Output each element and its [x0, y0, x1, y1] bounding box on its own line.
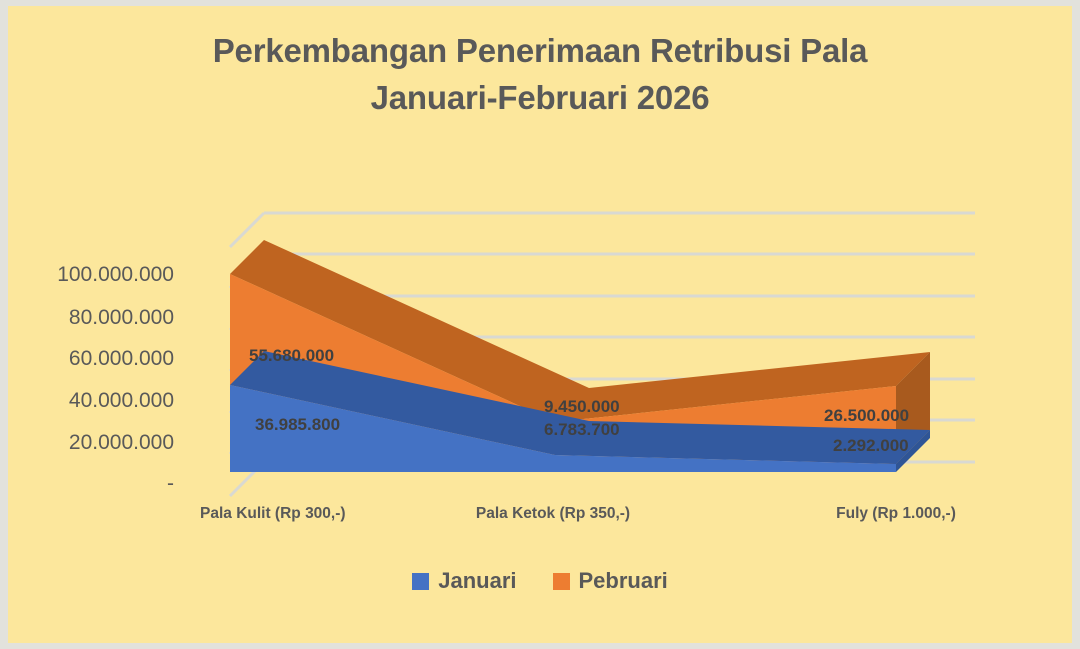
y-tick-label: 100.000.000 — [57, 263, 174, 286]
data-label-pebruari-pala-ketok: 9.450.000 — [544, 397, 620, 416]
y-tick-label: 40.000.000 — [69, 389, 174, 412]
data-label-januari-fuly: 2.292.000 — [833, 436, 909, 455]
legend-item-januari[interactable]: Januari — [412, 570, 516, 592]
data-label-pebruari-pala-kulit: 55.680.000 — [249, 346, 334, 365]
chart-canvas[interactable]: Perkembangan Penerimaan Retribusi Pala J… — [8, 6, 1072, 643]
legend-label-januari: Januari — [438, 570, 516, 592]
legend-swatch-pebruari — [553, 573, 570, 590]
data-label-januari-pala-ketok: 6.783.700 — [544, 420, 620, 439]
y-tick-label: 80.000.000 — [69, 306, 174, 329]
y-tick-label: - — [167, 472, 174, 495]
depth-line-120000000 — [230, 213, 264, 247]
x-axis-labels: Pala Kulit (Rp 300,-) Pala Ketok (Rp 350… — [200, 505, 956, 522]
legend-swatch-januari — [412, 573, 429, 590]
legend-label-pebruari: Pebruari — [579, 570, 668, 592]
y-tick-label: 60.000.000 — [69, 347, 174, 370]
legend-item-pebruari[interactable]: Pebruari — [553, 570, 668, 592]
y-tick-label: 20.000.000 — [69, 431, 174, 454]
data-label-januari-pala-kulit: 36.985.800 — [255, 415, 340, 434]
chart-legend[interactable]: Januari Pebruari — [8, 570, 1072, 592]
y-axis-labels: 100.000.000 80.000.000 60.000.000 40.000… — [57, 263, 174, 495]
x-tick-label-pala-kulit: Pala Kulit (Rp 300,-) — [200, 505, 346, 522]
x-tick-label-pala-ketok: Pala Ketok (Rp 350,-) — [476, 505, 630, 522]
plot-area[interactable]: 100.000.000 80.000.000 60.000.000 40.000… — [8, 6, 1072, 566]
data-label-pebruari-fuly: 26.500.000 — [824, 406, 909, 425]
chart-window: Perkembangan Penerimaan Retribusi Pala J… — [0, 0, 1080, 649]
x-tick-label-fuly: Fuly (Rp 1.000,-) — [836, 505, 956, 522]
